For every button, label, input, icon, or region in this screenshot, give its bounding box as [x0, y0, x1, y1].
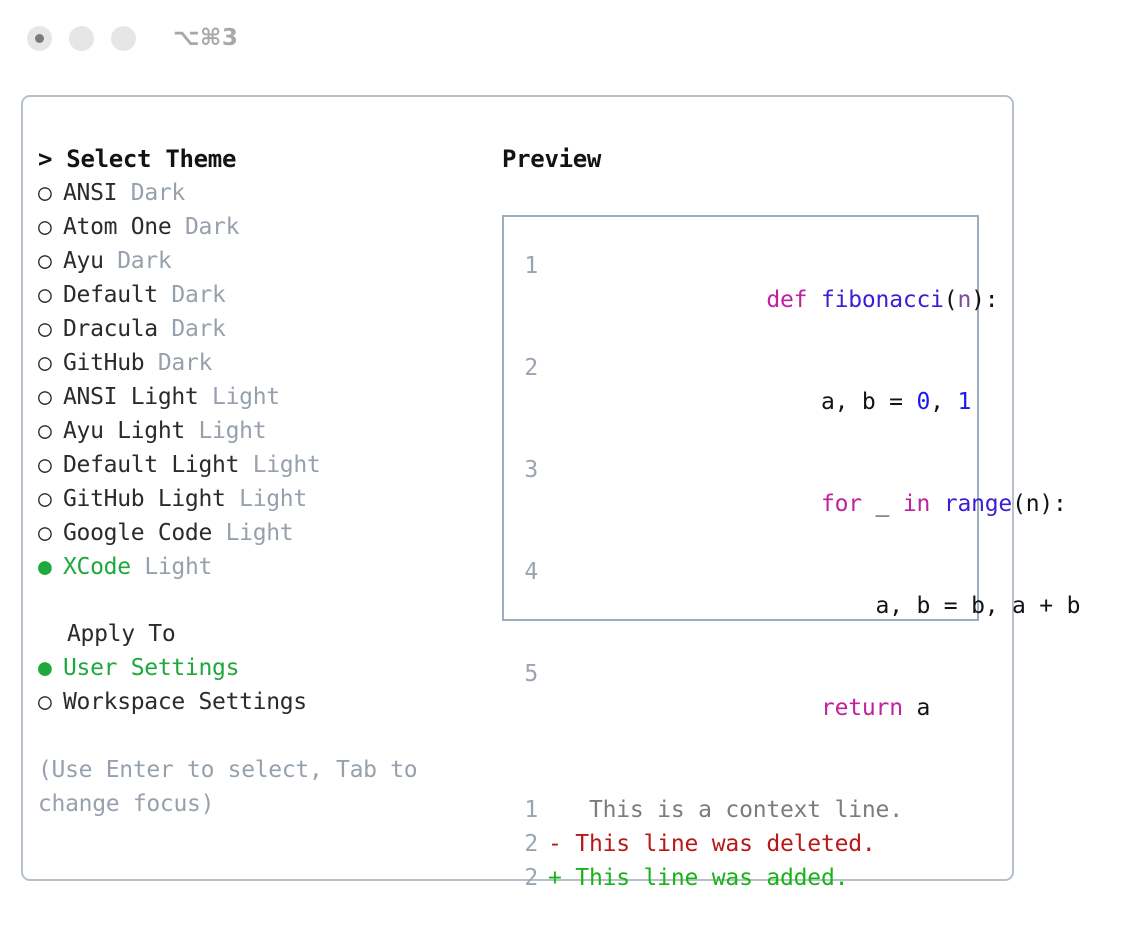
radio-icon: ○ — [38, 516, 63, 550]
preview-title: Preview — [502, 142, 1012, 176]
diff-line-context: 1 This is a context line. — [504, 793, 977, 827]
active-indicator-inner-dot — [35, 34, 44, 43]
theme-option-label: Ayu Light — [63, 414, 185, 448]
theme-option-label: Ayu — [63, 244, 104, 278]
theme-option-github-light[interactable]: ○ GitHub Light Light — [38, 482, 488, 516]
apply-to-section: Apply To ● User Settings ○ Workspace Set… — [38, 617, 488, 719]
radio-icon: ○ — [38, 244, 63, 278]
code-token: n — [957, 287, 971, 313]
line-number: 1 — [504, 793, 548, 827]
theme-option-xcode[interactable]: ● XCode Light — [38, 550, 488, 584]
main-panel: > Select Theme ○ ANSI Dark ○ Atom One Da… — [21, 95, 1014, 881]
dot-3[interactable] — [111, 26, 136, 51]
theme-option-label: Default — [63, 278, 158, 312]
theme-option-label: XCode — [63, 550, 131, 584]
apply-to-option-user-settings[interactable]: ● User Settings — [38, 651, 488, 685]
line-number: 4 — [504, 555, 548, 589]
theme-option-variant: Light — [253, 448, 321, 482]
theme-option-label: Atom One — [63, 210, 171, 244]
code-token: ): — [971, 287, 998, 313]
theme-option-variant: Dark — [185, 210, 239, 244]
preview-column: Preview 1 def fibonacci(n): 2 — [488, 97, 1012, 879]
radio-icon: ○ — [38, 414, 63, 448]
code-token: ( — [944, 287, 958, 313]
preview-box: 1 def fibonacci(n): 2 a, b = 0, 1 — [502, 215, 979, 621]
theme-option-dracula[interactable]: ○ Dracula Dark — [38, 312, 488, 346]
code-sample: 1 def fibonacci(n): 2 a, b = 0, 1 — [504, 249, 977, 759]
radio-icon: ○ — [38, 482, 63, 516]
diff-marker — [548, 793, 562, 827]
theme-option-variant: Light — [239, 482, 307, 516]
radio-icon: ○ — [38, 210, 63, 244]
theme-option-variant: Dark — [171, 278, 225, 312]
diff-line-added: 2 + This line was added. — [504, 861, 977, 895]
theme-option-ayu-light[interactable]: ○ Ayu Light Light — [38, 414, 488, 448]
code-token: def — [766, 287, 821, 313]
code-token: a, b = — [766, 389, 916, 415]
theme-option-label: Google Code — [63, 516, 212, 550]
diff-marker: - — [548, 827, 562, 861]
theme-option-default[interactable]: ○ Default Dark — [38, 278, 488, 312]
preview-spacer — [504, 759, 977, 793]
code-line: 2 a, b = 0, 1 — [504, 351, 977, 453]
code-token — [766, 491, 821, 517]
theme-picker-column: > Select Theme ○ ANSI Dark ○ Atom One Da… — [23, 97, 488, 879]
theme-option-github[interactable]: ○ GitHub Dark — [38, 346, 488, 380]
code-line: 4 a, b = b, a + b — [504, 555, 977, 657]
code-line: 3 for _ in range(n): — [504, 453, 977, 555]
theme-option-label: GitHub — [63, 346, 144, 380]
line-number: 5 — [504, 657, 548, 691]
code-token: range — [944, 491, 1012, 517]
radio-icon: ○ — [38, 380, 63, 414]
line-number: 2 — [504, 351, 548, 385]
theme-option-variant: Dark — [158, 346, 212, 380]
theme-option-atom-one[interactable]: ○ Atom One Dark — [38, 210, 488, 244]
theme-option-variant: Dark — [171, 312, 225, 346]
code-token: _ — [862, 491, 903, 517]
diff-text: This line was deleted. — [562, 827, 876, 861]
theme-option-variant: Light — [226, 516, 294, 550]
theme-option-ayu[interactable]: ○ Ayu Dark — [38, 244, 488, 278]
diff-text: This line was added. — [562, 861, 849, 895]
radio-icon: ○ — [38, 346, 63, 380]
radio-icon: ○ — [38, 312, 63, 346]
code-token — [766, 695, 821, 721]
code-token: for — [821, 491, 862, 517]
code-token: , — [930, 389, 957, 415]
apply-to-option-workspace-settings[interactable]: ○ Workspace Settings — [38, 685, 488, 719]
line-number: 2 — [504, 861, 548, 895]
line-number: 2 — [504, 827, 548, 861]
select-theme-header: > Select Theme — [38, 142, 488, 176]
code-token: a, b = b, a + b — [766, 593, 1080, 619]
theme-option-ansi[interactable]: ○ ANSI Dark — [38, 176, 488, 210]
theme-option-variant: Dark — [131, 176, 185, 210]
theme-option-label: Dracula — [63, 312, 158, 346]
code-token: 1 — [957, 389, 971, 415]
theme-option-variant: Light — [144, 550, 212, 584]
line-number: 3 — [504, 453, 548, 487]
keyboard-hint-text: (Use Enter to select, Tab to change focu… — [38, 753, 448, 821]
theme-option-default-light[interactable]: ○ Default Light Light — [38, 448, 488, 482]
theme-option-list: ○ ANSI Dark ○ Atom One Dark ○ Ayu — [38, 176, 488, 584]
diff-sample: 1 This is a context line. 2 - This line … — [504, 793, 977, 895]
theme-option-label: Default Light — [63, 448, 239, 482]
theme-option-label: ANSI — [63, 176, 117, 210]
terminal-window: ⌥⌘3 > Select Theme ○ ANSI Dark ○ Atom On… — [0, 0, 1140, 934]
code-token: a — [903, 695, 930, 721]
code-token: 0 — [916, 389, 930, 415]
theme-option-variant: Light — [199, 414, 267, 448]
code-line: 5 return a — [504, 657, 977, 759]
keyboard-shortcut-label: ⌥⌘3 — [173, 25, 238, 51]
apply-to-label: Apply To — [38, 617, 488, 651]
code-token: (n): — [1012, 491, 1067, 517]
radio-icon: ○ — [38, 685, 63, 719]
diff-marker: + — [548, 861, 562, 895]
line-number: 1 — [504, 249, 548, 283]
active-indicator-dot[interactable] — [27, 26, 52, 51]
diff-text: This is a context line. — [562, 793, 903, 827]
code-token — [930, 491, 944, 517]
radio-selected-icon: ● — [38, 651, 63, 685]
apply-to-option-label: Workspace Settings — [63, 685, 307, 719]
code-token: in — [903, 491, 930, 517]
theme-option-variant: Dark — [117, 244, 171, 278]
dot-2[interactable] — [69, 26, 94, 51]
radio-selected-icon: ● — [38, 550, 63, 584]
code-token: fibonacci — [821, 287, 944, 313]
radio-icon: ○ — [38, 176, 63, 210]
radio-icon: ○ — [38, 448, 63, 482]
code-line: 1 def fibonacci(n): — [504, 249, 977, 351]
traffic-lights — [27, 26, 136, 51]
theme-option-variant: Light — [212, 380, 280, 414]
theme-option-label: ANSI Light — [63, 380, 198, 414]
theme-option-label: GitHub Light — [63, 482, 226, 516]
code-token: return — [821, 695, 903, 721]
theme-option-ansi-light[interactable]: ○ ANSI Light Light — [38, 380, 488, 414]
apply-to-option-label: User Settings — [63, 651, 239, 685]
radio-icon: ○ — [38, 278, 63, 312]
theme-option-google-code[interactable]: ○ Google Code Light — [38, 516, 488, 550]
diff-line-deleted: 2 - This line was deleted. — [504, 827, 977, 861]
window-titlebar: ⌥⌘3 — [0, 0, 1140, 76]
